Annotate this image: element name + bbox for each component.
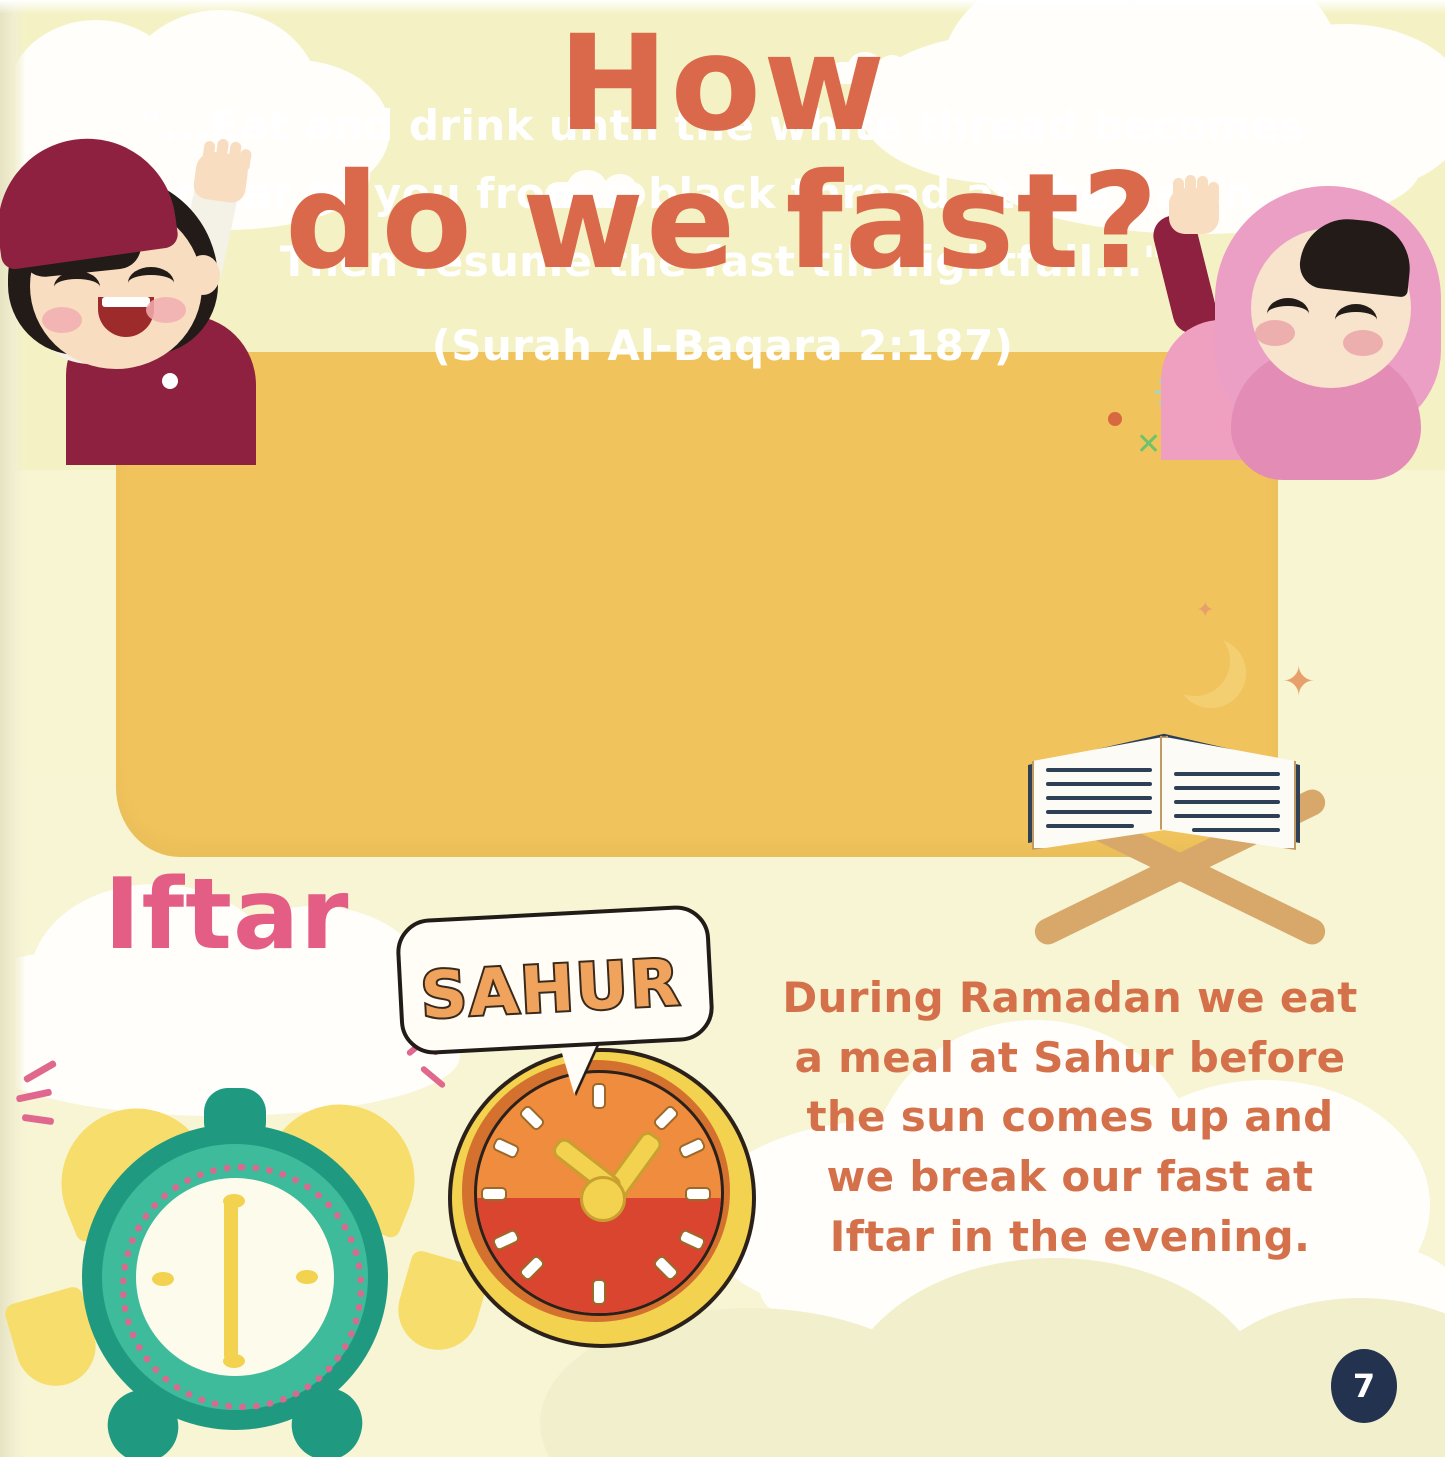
confetti-dot [1108, 412, 1122, 426]
quote-line-3: Then resume the fast till nightfall..." [280, 237, 1165, 286]
pocket-clock-illustration [448, 1048, 758, 1348]
quran-illustration [984, 702, 1384, 964]
clock-hand [224, 1196, 238, 1362]
open-book-icon [1028, 726, 1300, 856]
quote-line-2: clear to you from a black thread at the … [175, 169, 1270, 218]
book-page: How do we fast? [0, 0, 1445, 1457]
body-paragraph: During Ramadan we eat a meal at Sahur be… [770, 968, 1370, 1266]
girl-waving-hand [1169, 188, 1219, 234]
iftar-heading: Iftar [104, 866, 349, 964]
kufi-cap-icon [0, 127, 179, 271]
boy-character [0, 125, 270, 425]
crescent-moon-icon [1160, 626, 1230, 696]
page-number-badge: 7 [1331, 1349, 1397, 1423]
sparkle-star-icon: ✦ [1196, 600, 1214, 622]
page-top-edge [0, 0, 1445, 14]
alarm-clock-illustration [24, 1058, 444, 1457]
sparkle-star-icon: ✦ [1282, 662, 1316, 702]
quote-line-1: "...Eat and drink until the white thread… [140, 101, 1306, 150]
girl-character [1151, 180, 1445, 440]
boy-waving-hand [192, 150, 250, 205]
sahur-label: SAHUR [395, 918, 707, 1062]
